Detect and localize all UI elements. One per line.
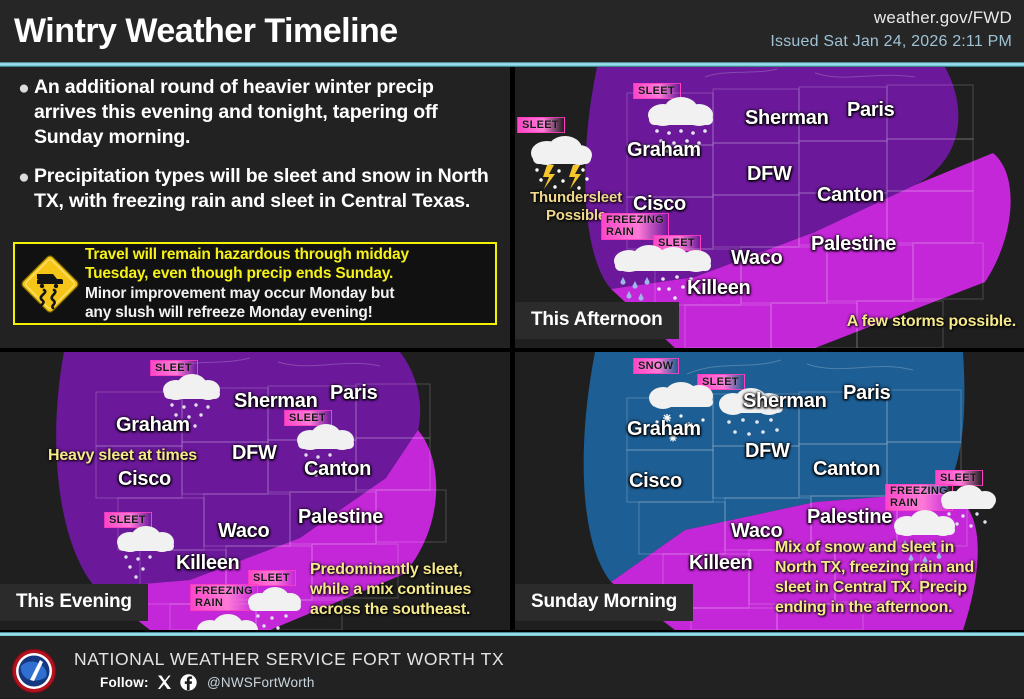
city-label-cisco: Cisco [633,193,686,216]
city-label-dfw: DFW [747,163,792,186]
city-label-paris: Paris [843,382,890,405]
city-label-cisco: Cisco [629,470,682,493]
map-panel-sunday-morning: SNOW SLEET [515,352,1024,630]
map-panel-this-afternoon: SLEET Thundersleet Possible [515,67,1024,348]
city-label-sherman: Sherman [743,390,827,413]
city-label-killeen: Killeen [687,277,750,300]
city-label-dfw: DFW [232,442,277,465]
travel-warning-box: Travel will remain hazardous through mid… [13,242,497,325]
warning-line-1: Travel will remain hazardous through mid… [85,245,409,265]
city-label-canton: Canton [304,458,371,481]
freezing-rain-cloud-icon [190,610,310,630]
city-label-graham: Graham [116,414,190,437]
city-label-dfw: DFW [745,440,790,463]
annotation-storms: A few storms possible. [847,312,1016,332]
nws-seal-logo-icon [10,648,62,694]
time-label-this-evening: This Evening [0,584,148,621]
city-label-palestine: Palestine [298,506,383,529]
city-label-killeen: Killeen [176,552,239,575]
annotation-line-2: North TX, freezing rain and [775,558,1021,578]
facebook-icon[interactable] [180,674,197,696]
city-label-waco: Waco [731,247,782,270]
footer-social-handle[interactable]: @NWSFortWorth [207,675,315,690]
annotation-line-3: sleet in Central TX. Precip [775,578,1021,598]
header-website: weather.gov/FWD [874,8,1012,28]
header-bar: Wintry Weather Timeline weather.gov/FWD … [0,0,1024,62]
annotation-sunday: Mix of snow and sleet in North TX, freez… [775,538,1021,618]
city-label-graham: Graham [627,418,701,441]
page-title: Wintry Weather Timeline [14,12,398,51]
city-label-canton: Canton [813,458,880,481]
annotation-line-1: Mix of snow and sleet in [775,538,1021,558]
annotation-line-1: Predominantly sleet, [310,560,510,580]
slippery-road-sign-icon [15,253,85,315]
summary-panel: ● An additional round of heavier winter … [0,67,510,348]
snow-sleet-cloud-icon [637,372,827,458]
sleet-thunder-cloud-icon [521,127,605,197]
annotation-heavy-sleet: Heavy sleet at times [48,446,197,466]
weather-graphic: Wintry Weather Timeline weather.gov/FWD … [0,0,1024,698]
city-label-graham: Graham [627,139,701,162]
city-label-killeen: Killeen [689,552,752,575]
annotation-line-3: across the southeast. [310,600,510,620]
time-label-sunday-morning: Sunday Morning [515,584,693,621]
footer-office-name: NATIONAL WEATHER SERVICE FORT WORTH TX [74,649,504,670]
city-label-paris: Paris [330,382,377,405]
city-label-sherman: Sherman [234,390,318,413]
x-twitter-icon[interactable] [156,674,173,696]
bullet-icon: ● [14,164,34,214]
city-label-cisco: Cisco [118,468,171,491]
warning-line-3: Minor improvement may occur Monday but [85,284,409,304]
warning-line-2: Tuesday, even though precip ends Sunday. [85,264,409,284]
bullet-text: Precipitation types will be sleet and sn… [34,164,496,214]
warning-line-4: any slush will refreeze Monday evening! [85,303,409,323]
city-label-paris: Paris [847,99,894,122]
annotation-line-4: ending in the afternoon. [775,598,1021,618]
list-item: ● Precipitation types will be sleet and … [14,164,496,214]
bullet-text: An additional round of heavier winter pr… [34,75,496,150]
thundersleet-note-line1: Thundersleet [521,189,631,207]
bullet-list: ● An additional round of heavier winter … [0,75,510,228]
list-item: ● An additional round of heavier winter … [14,75,496,150]
time-label-this-afternoon: This Afternoon [515,302,679,339]
footer-follow-label: Follow: [100,675,149,690]
annotation-line-2: while a mix continues [310,580,510,600]
header-issued-time: Issued Sat Jan 24, 2026 2:11 PM [770,33,1012,51]
bullet-icon: ● [14,75,34,150]
city-label-palestine: Palestine [807,506,892,529]
travel-warning-text: Travel will remain hazardous through mid… [85,245,415,323]
city-label-sherman: Sherman [745,107,829,130]
city-label-waco: Waco [218,520,269,543]
sleet-cloud-icon [110,520,186,582]
city-label-palestine: Palestine [811,233,896,256]
map-panel-this-evening: SLEET SLEET [0,352,510,630]
city-label-canton: Canton [817,184,884,207]
annotation-evening: Predominantly sleet, while a mix continu… [310,560,510,620]
